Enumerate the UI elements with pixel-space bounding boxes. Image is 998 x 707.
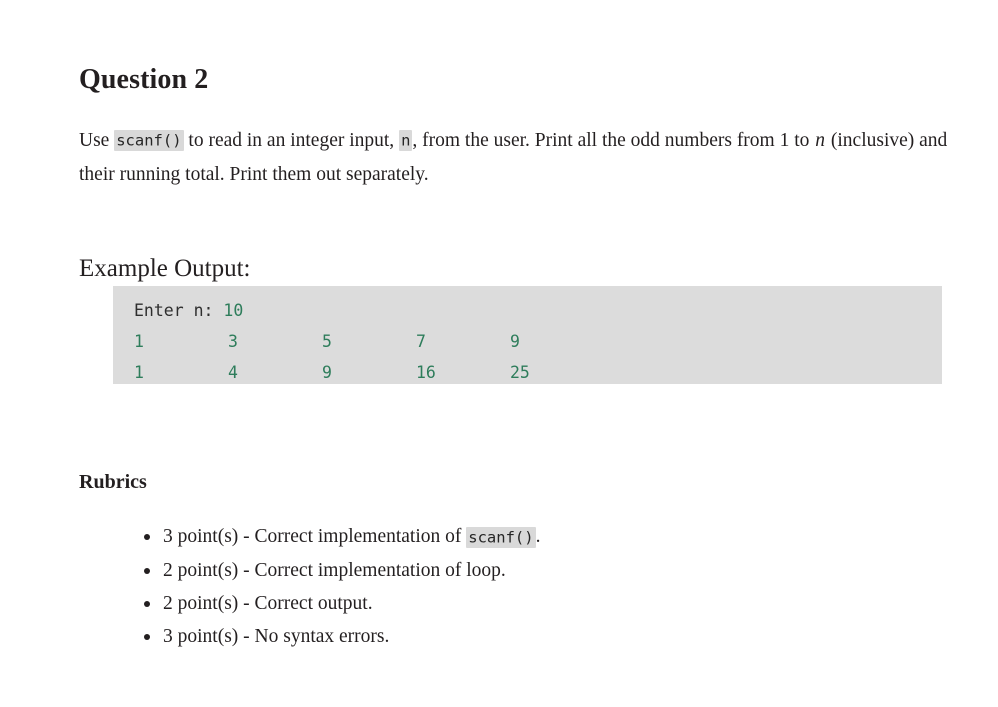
output-cell: 1 [134,326,228,357]
bullet-icon [144,534,150,540]
example-output-block: Enter n: 10 13579 1491625 [113,286,942,384]
rubric-text-after: loop. [466,560,506,581]
list-item: 2 point(s) - Correct implementation of l… [141,554,941,587]
rubric-text-before: 3 point(s) - No syntax errors. [163,626,389,647]
prompt-text-segment-1: Use [79,130,114,151]
rubrics-list: 3 point(s) - Correct implementation of s… [141,520,941,653]
output-cell: 25 [510,357,604,384]
prompt-text-segment-3: , from the user. Print all the odd numbe… [412,130,814,151]
output-cell: 9 [510,326,604,357]
output-cell: 7 [416,326,510,357]
output-prompt-label: Enter n: [134,301,223,320]
document-page: Question 2 Use scanf() to read in an int… [0,0,998,707]
output-cell: 16 [416,357,510,384]
output-line-odd-numbers: 13579 [113,326,942,357]
output-prompt-value: 10 [223,301,243,320]
rubric-text-before: 2 point(s) - Correct output. [163,593,373,614]
inline-code-scanf: scanf() [114,130,183,151]
bullet-icon [144,568,150,574]
inline-code-n: n [399,130,412,151]
rubrics-heading: Rubrics [79,469,147,495]
rubric-text-before: 3 point(s) - Correct implementation of [163,526,466,547]
question-prompt-paragraph: Use scanf() to read in an integer input,… [79,124,951,191]
output-line-running-total: 1491625 [113,357,942,384]
example-output-heading: Example Output: [79,253,251,285]
output-cell: 1 [134,357,228,384]
inline-variable-n: n [814,130,826,151]
list-item: 2 point(s) - Correct output. [141,587,941,620]
output-cell: 5 [322,326,416,357]
output-cell: 9 [322,357,416,384]
rubric-text-after: . [536,526,541,547]
list-item: 3 point(s) - No syntax errors. [141,620,941,653]
prompt-text-segment-2: to read in an integer input, [184,130,400,151]
page-title: Question 2 [79,63,208,97]
list-item: 3 point(s) - Correct implementation of s… [141,520,941,554]
inline-code-scanf: scanf() [466,527,535,548]
bullet-icon [144,634,150,640]
output-cell: 3 [228,326,322,357]
bullet-icon [144,601,150,607]
output-cell: 4 [228,357,322,384]
output-line-prompt: Enter n: 10 [113,295,942,326]
rubric-text-before: 2 point(s) - Correct implementation of [163,560,466,581]
